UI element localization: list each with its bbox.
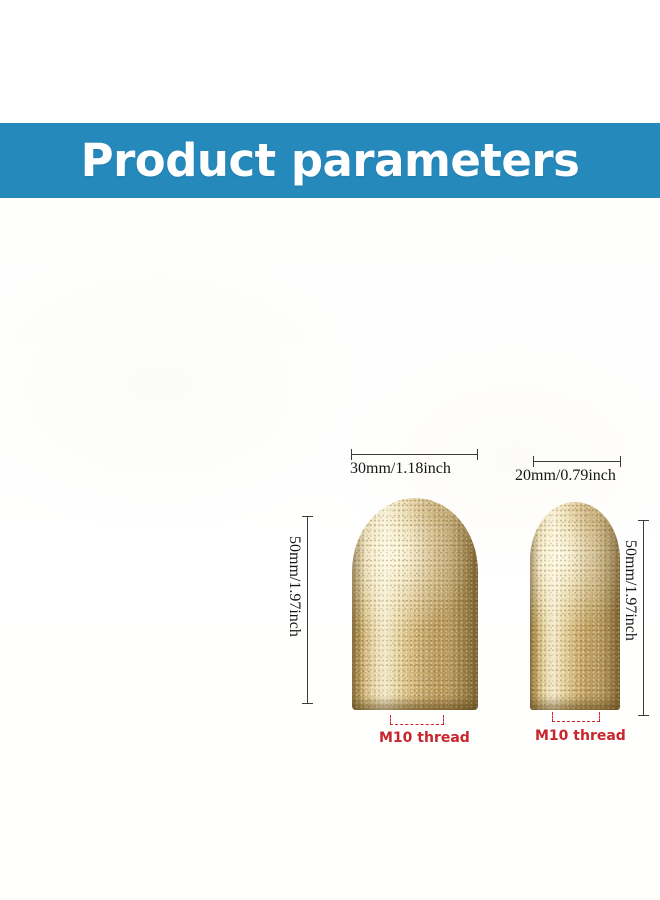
product-parameters-page: Product parameters 30mm/1.18inch 50mm/1.… [0,0,660,900]
thread-label-small: M10 thread [535,729,626,743]
product-photo-area: 30mm/1.18inch 50mm/1.97inch M10 thread 2… [0,198,660,900]
cap-texture-grain [352,498,478,710]
cap-sheen-highlight [530,502,620,710]
product-parameters-banner: Product parameters [0,123,660,198]
thread-bracket-small [552,712,600,722]
cap-texture-grain [530,502,620,710]
dimension-label-height-large: 50mm/1.97inch [286,536,302,637]
dimension-line-height-small [643,520,644,716]
dimension-label-height-small: 50mm/1.97inch [622,540,638,641]
cap-sheen-highlight [352,498,478,710]
thread-bracket-large [390,715,444,725]
dimension-line-width-large [351,454,478,455]
top-whitespace [0,0,660,123]
cap-base-shadow [530,696,620,710]
product-image-cap-small [530,502,620,710]
thread-label-large: M10 thread [379,731,470,745]
dimension-line-width-small [533,461,621,462]
dimension-label-width-small: 20mm/0.79inch [515,468,616,484]
product-image-cap-large [352,498,478,710]
dimension-label-width-large: 30mm/1.18inch [350,461,451,477]
cap-base-shadow [352,696,478,710]
banner-title: Product parameters [81,138,580,183]
dimension-line-height-large [307,516,308,704]
